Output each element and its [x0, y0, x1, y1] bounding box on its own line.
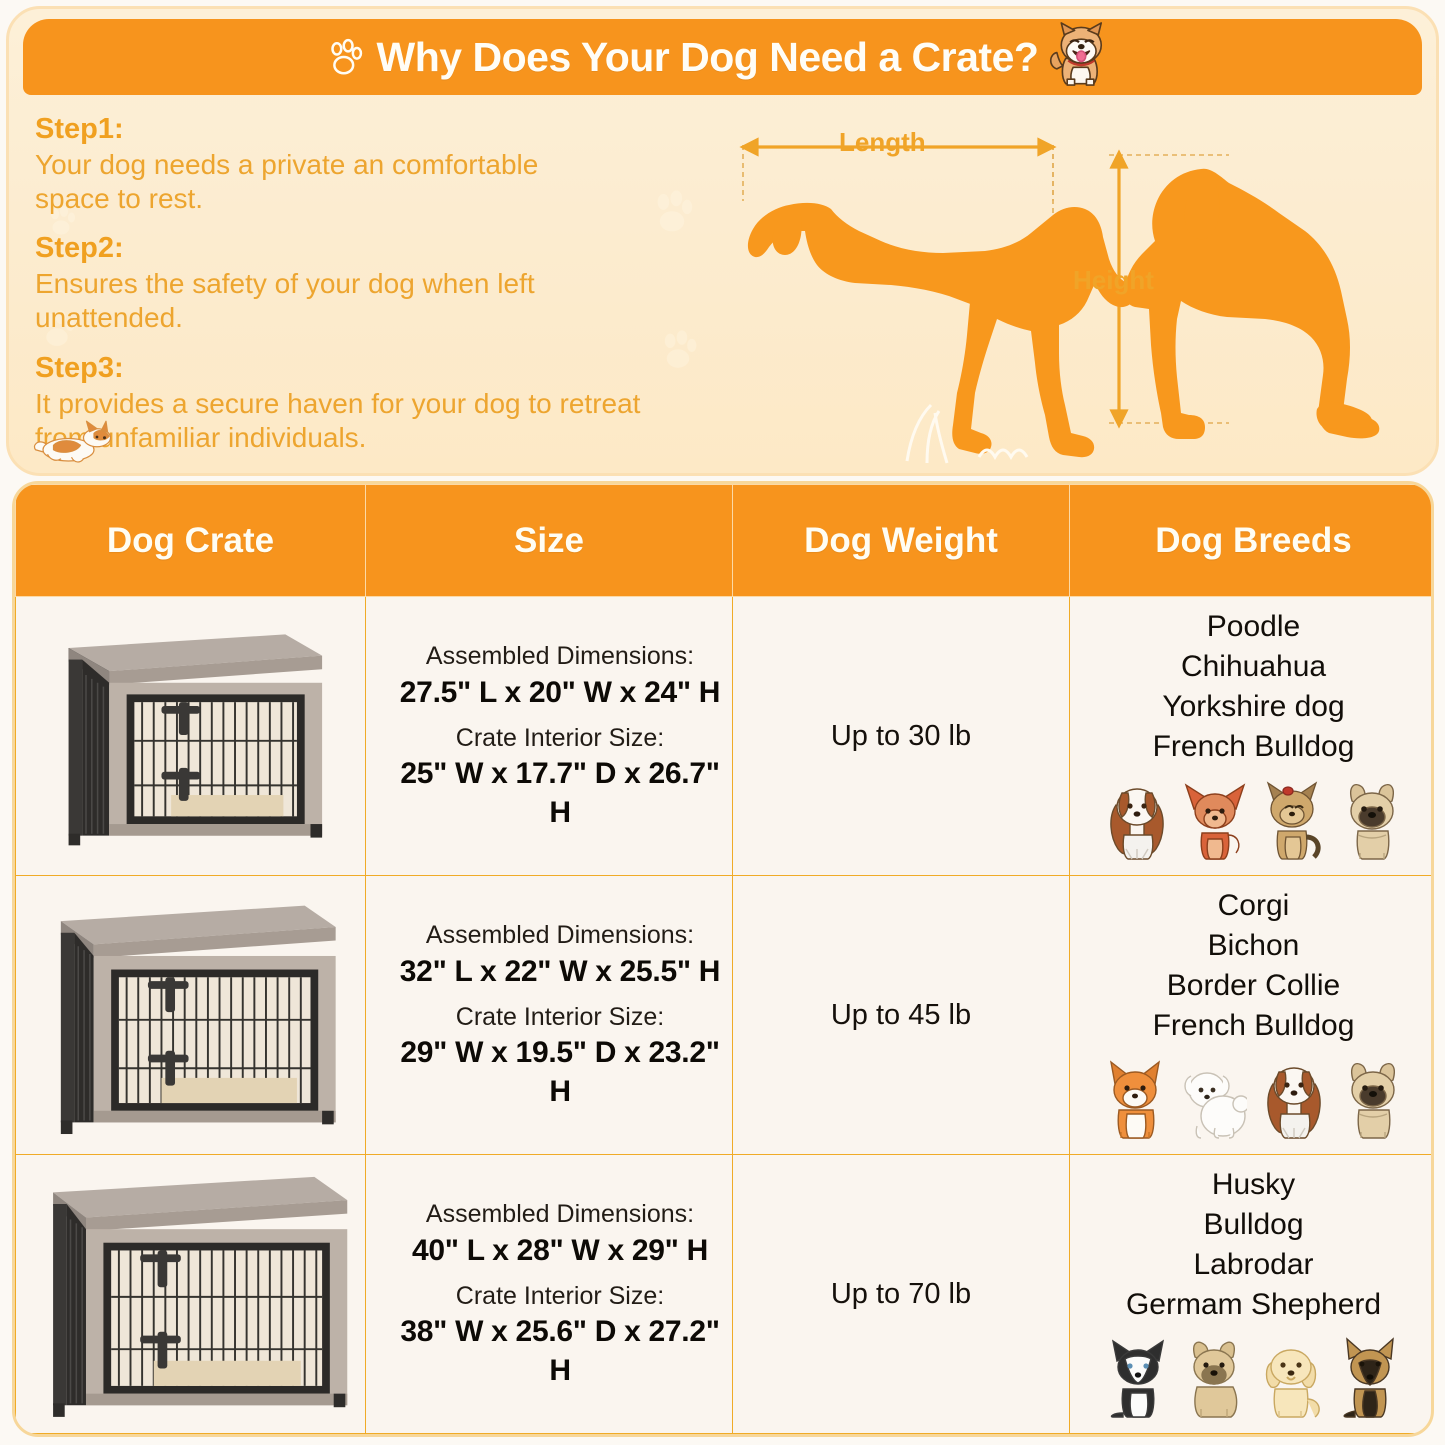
table-header-row: Dog Crate Size Dog Weight Dog Breeds — [16, 485, 1435, 597]
step-item: Step2: Ensures the safety of your dog wh… — [35, 232, 735, 335]
crate-photo-cell — [16, 597, 366, 876]
breed-name: Labrodar — [1076, 1245, 1431, 1285]
cavalier-spaniel-icon — [1261, 1058, 1327, 1140]
size-cell: Assembled Dimensions: 32" L x 22" W x 25… — [366, 876, 733, 1155]
step-label: Step1: — [35, 113, 735, 146]
french-bulldog-icon — [1341, 1058, 1405, 1140]
assembled-label: Assembled Dimensions: — [388, 640, 732, 673]
table-row: Assembled Dimensions: 32" L x 22" W x 25… — [16, 876, 1435, 1155]
table-row: Assembled Dimensions: 40" L x 28" W x 29… — [16, 1155, 1435, 1434]
assembled-value: 40" L x 28" W x 29" H — [388, 1231, 732, 1270]
breed-name: Germam Shepherd — [1076, 1285, 1431, 1325]
breed-name: French Bulldog — [1076, 727, 1431, 767]
assembled-value: 27.5" L x 20" W x 24" H — [388, 673, 732, 712]
husky-icon — [1107, 1337, 1169, 1419]
breed-name: Border Collie — [1076, 966, 1431, 1006]
bulldog-icon — [1183, 1337, 1245, 1419]
step-item: Step1: Your dog needs a private an comfo… — [35, 113, 735, 216]
weight-cell: Up to 70 lb — [733, 1155, 1070, 1434]
german-shepherd-icon — [1339, 1337, 1401, 1419]
size-cell: Assembled Dimensions: 27.5" L x 20" W x … — [366, 597, 733, 876]
breed-name: Bulldog — [1076, 1205, 1431, 1245]
breed-name: Chihuahua — [1076, 647, 1431, 687]
yorkshire-terrier-icon — [1260, 779, 1326, 861]
interior-label: Crate Interior Size: — [388, 722, 732, 755]
corgi-icon — [1103, 1058, 1167, 1140]
cavalier-spaniel-icon — [1104, 779, 1170, 861]
bichon-frise-icon — [1181, 1058, 1247, 1140]
crate-photo-cell — [16, 1155, 366, 1434]
step-label: Step3: — [35, 352, 735, 385]
column-header-dog-crate: Dog Crate — [16, 485, 366, 597]
dog-crate-large-photo — [26, 1163, 355, 1425]
running-corgi-icon — [31, 415, 121, 471]
breed-name: Yorkshire dog — [1076, 687, 1431, 727]
shiba-dog-icon — [1044, 20, 1120, 94]
height-label: Height — [1073, 265, 1154, 296]
dog-crate-small-photo — [26, 605, 355, 867]
crate-sizing-table: Dog Crate Size Dog Weight Dog Breeds — [15, 484, 1434, 1434]
chihuahua-icon — [1184, 779, 1246, 861]
assembled-value: 32" L x 22" W x 25.5" H — [388, 952, 732, 991]
interior-label: Crate Interior Size: — [388, 1280, 732, 1313]
interior-label: Crate Interior Size: — [388, 1001, 732, 1034]
column-header-dog-breeds: Dog Breeds — [1070, 485, 1435, 597]
step-text: Ensures the safety of your dog when left… — [35, 267, 735, 335]
labrador-icon — [1259, 1337, 1325, 1419]
column-header-size: Size — [366, 485, 733, 597]
step-text: It provides a secure haven for your dog … — [35, 387, 735, 455]
breed-name: French Bulldog — [1076, 1006, 1431, 1046]
breed-name: Corgi — [1076, 886, 1431, 926]
interior-value: 25" W x 17.7" D x 26.7" H — [388, 754, 732, 832]
breeds-cell: Corgi Bichon Border Collie French Bulldo… — [1070, 876, 1435, 1155]
column-header-dog-weight: Dog Weight — [733, 485, 1070, 597]
step-label: Step2: — [35, 232, 735, 265]
breed-name: Bichon — [1076, 926, 1431, 966]
step-item: Step3: It provides a secure haven for yo… — [35, 352, 735, 455]
breed-name: Husky — [1076, 1165, 1431, 1205]
breed-name: Poodle — [1076, 607, 1431, 647]
info-panel: Why Does Your Dog Need a Crate? — [6, 6, 1439, 476]
assembled-label: Assembled Dimensions: — [388, 1198, 732, 1231]
table-row: Assembled Dimensions: 27.5" L x 20" W x … — [16, 597, 1435, 876]
page-title-bar: Why Does Your Dog Need a Crate? — [23, 19, 1422, 95]
crate-sizing-table-container: Dog Crate Size Dog Weight Dog Breeds — [12, 481, 1434, 1437]
assembled-label: Assembled Dimensions: — [388, 919, 732, 952]
breeds-cell: Husky Bulldog Labrodar Germam Shepherd — [1070, 1155, 1435, 1434]
step-text: Your dog needs a private an comfortable … — [35, 148, 735, 216]
dog-measurement-diagram: Length Height — [731, 105, 1431, 471]
length-label: Length — [839, 127, 926, 158]
crate-photo-cell — [16, 876, 366, 1155]
interior-value: 38" W x 25.6" D x 27.2" H — [388, 1312, 732, 1390]
weight-cell: Up to 30 lb — [733, 597, 1070, 876]
french-bulldog-icon — [1340, 779, 1404, 861]
size-cell: Assembled Dimensions: 40" L x 28" W x 29… — [366, 1155, 733, 1434]
steps-list: Step1: Your dog needs a private an comfo… — [35, 113, 735, 471]
breeds-cell: Poodle Chihuahua Yorkshire dog French Bu… — [1070, 597, 1435, 876]
paw-icon — [325, 37, 365, 77]
weight-cell: Up to 45 lb — [733, 876, 1070, 1155]
interior-value: 29" W x 19.5" D x 23.2" H — [388, 1033, 732, 1111]
dog-crate-medium-photo — [26, 884, 355, 1146]
page-title: Why Does Your Dog Need a Crate? — [377, 34, 1039, 81]
